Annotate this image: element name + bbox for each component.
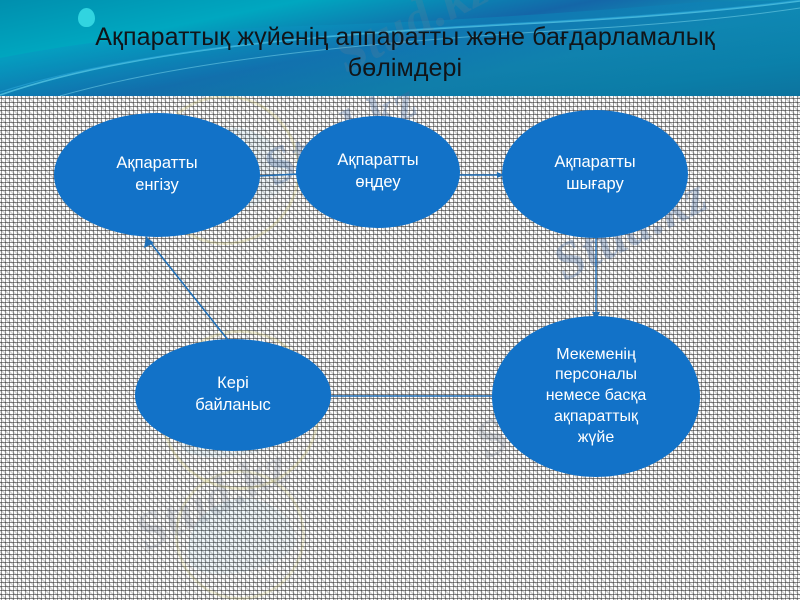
diagram-node-staff[interactable]: Мекеменің персоналы немесе басқа ақпарат…	[492, 316, 700, 477]
diagram-node-feedback[interactable]: Кері байланыс	[135, 339, 331, 451]
diagram-node-label: Кері байланыс	[185, 373, 281, 417]
page-title: Ақпараттық жүйенің аппаратты және бағдар…	[60, 22, 750, 83]
diagram-node-label: Мекеменің персоналы немесе басқа ақпарат…	[536, 345, 657, 449]
diagram-node-label: Ақпаратты өңдеу	[327, 150, 428, 194]
diagram-node-label: Ақпаратты шығару	[544, 152, 645, 196]
diagram-node-label: Ақпаратты енгізу	[106, 153, 207, 197]
diagram-node-output[interactable]: Ақпаратты шығару	[502, 110, 688, 238]
diagram-node-input[interactable]: Ақпаратты енгізу	[54, 113, 260, 237]
presentation-slide: Stud.kz Stud.kz Stud.kz Stud.kz Stud.kz …	[0, 0, 800, 600]
diagram-node-process[interactable]: Ақпаратты өңдеу	[296, 116, 460, 228]
slide-title-block: Ақпараттық жүйенің аппаратты және бағдар…	[60, 22, 750, 83]
